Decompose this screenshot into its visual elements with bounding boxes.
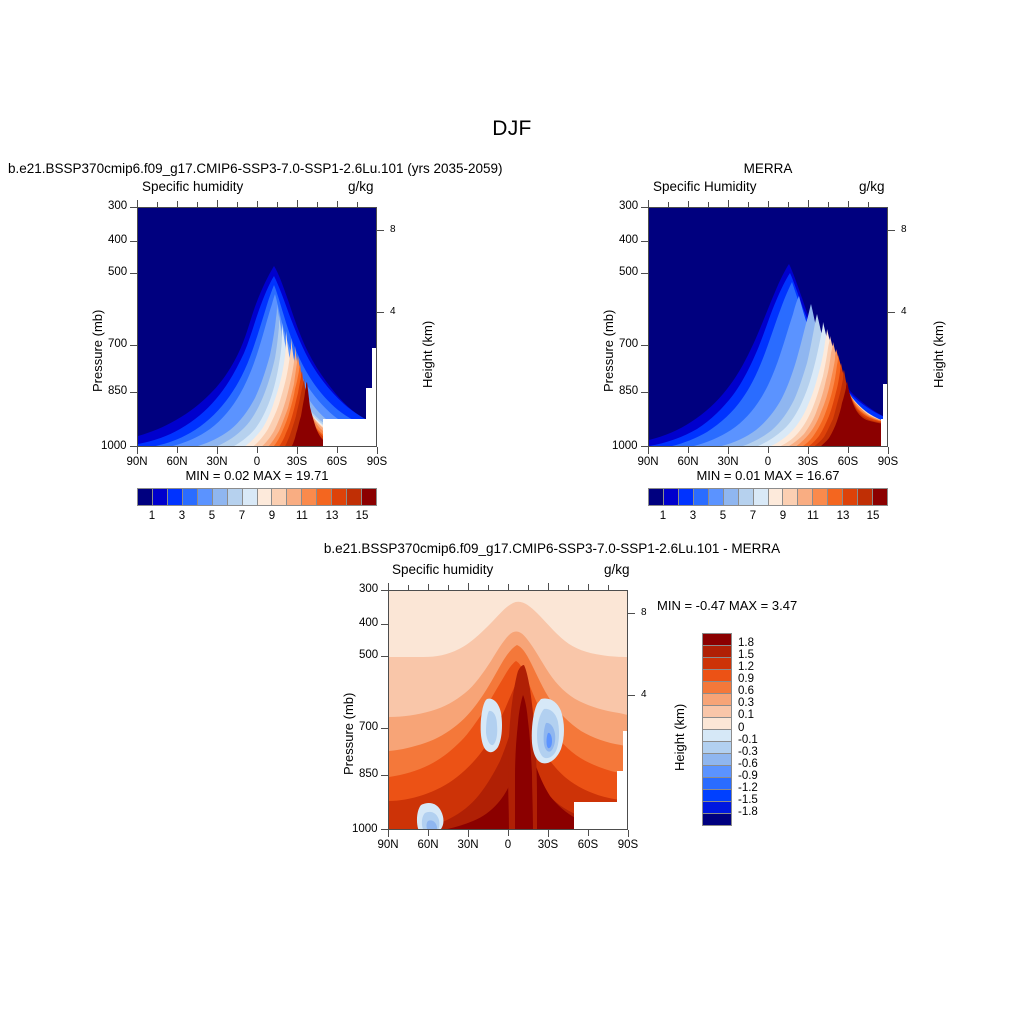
colorbar-cell-1 xyxy=(152,489,167,505)
colorbar-cell-10 xyxy=(703,753,731,765)
colorbar-cell-12 xyxy=(827,489,842,505)
diff-cbar-tick-8: -0.1 xyxy=(738,734,758,746)
obs-ytick-850: 850 xyxy=(619,385,638,397)
model-ytick-700: 700 xyxy=(108,338,127,350)
diff-variable-label: Specific humidity xyxy=(392,562,493,577)
model-panel-title: b.e21.BSSP370cmip6.f09_g17.CMIP6-SSP3-7.… xyxy=(8,161,503,176)
obs-colorbar xyxy=(648,488,888,506)
model-xtick-mark xyxy=(337,447,338,453)
colorbar-cell-1 xyxy=(663,489,678,505)
diff-xtick-mark xyxy=(428,584,429,590)
obs-cbar-tick-5: 5 xyxy=(708,510,738,522)
colorbar-cell-4 xyxy=(703,681,731,693)
model-xtick-minor xyxy=(317,202,318,207)
obs-xtick-minor xyxy=(868,202,869,207)
diff-colorbar xyxy=(702,633,732,826)
obs-xtick-mark xyxy=(808,447,809,454)
diff-xtick-mark xyxy=(548,583,549,590)
model-ytick-mark xyxy=(130,446,137,447)
colorbar-cell-7 xyxy=(753,489,768,505)
diff-plot-area xyxy=(388,590,628,830)
colorbar-cell-7 xyxy=(242,489,257,505)
diff-xtick-60N: 60N xyxy=(408,839,448,851)
model-ytick-500: 500 xyxy=(108,266,127,278)
model-xtick-minor xyxy=(237,202,238,207)
obs-height-tick-8: 8 xyxy=(901,224,907,235)
diff-ytick-mark xyxy=(381,624,388,625)
model-xtick-mark xyxy=(257,201,258,207)
obs-xtick-mark xyxy=(648,447,649,454)
diff-xtick-mark xyxy=(508,830,509,836)
colorbar-cell-9 xyxy=(271,489,286,505)
obs-xtick-30N: 30N xyxy=(708,456,748,468)
diff-cbar-tick-7: 0 xyxy=(738,722,744,734)
model-height-tick-mark xyxy=(377,230,384,231)
diff-cbar-tick-9: -0.3 xyxy=(738,746,758,758)
model-ytick-mark xyxy=(130,207,137,208)
colorbar-cell-13 xyxy=(331,489,346,505)
obs-cbar-tick-13: 13 xyxy=(828,510,858,522)
diff-xtick-mark xyxy=(428,830,429,836)
diff-cbar-tick-4: 0.6 xyxy=(738,685,754,697)
obs-height-tick-mark xyxy=(888,312,895,313)
obs-xtick-mark xyxy=(768,201,769,207)
diff-xtick-mark xyxy=(468,830,469,837)
obs-y-axis-title: Pressure (mb) xyxy=(601,310,616,392)
diff-units-label: g/kg xyxy=(604,562,630,577)
diff-xtick-0: 0 xyxy=(488,839,528,851)
diff-cbar-tick-13: -1.5 xyxy=(738,794,758,806)
obs-ytick-700: 700 xyxy=(619,338,638,350)
diff-panel-title: b.e21.BSSP370cmip6.f09_g17.CMIP6-SSP3-7.… xyxy=(272,541,832,556)
model-ytick-1000: 1000 xyxy=(101,440,127,452)
diff-xtick-minor xyxy=(528,585,529,590)
colorbar-cell-9 xyxy=(703,741,731,753)
obs-xtick-0: 0 xyxy=(748,456,788,468)
figure-title: DJF xyxy=(0,117,1024,141)
diff-ytick-700: 700 xyxy=(359,721,378,733)
diff-height-tick-mark xyxy=(628,695,635,696)
model-xtick-60S: 60S xyxy=(317,456,357,468)
model-xtick-90N: 90N xyxy=(117,456,157,468)
obs-ytick-mark xyxy=(641,392,648,393)
diff-cbar-tick-0: 1.8 xyxy=(738,637,754,649)
colorbar-cell-4 xyxy=(197,489,212,505)
diff-xtick-60S: 60S xyxy=(568,839,608,851)
model-xtick-minor xyxy=(277,202,278,207)
colorbar-cell-11 xyxy=(703,765,731,777)
obs-height-tick-mark xyxy=(888,230,895,231)
diff-cbar-tick-3: 0.9 xyxy=(738,673,754,685)
model-height-tick-4: 4 xyxy=(390,306,396,317)
obs-cbar-tick-3: 3 xyxy=(678,510,708,522)
diff-cbar-tick-2: 1.2 xyxy=(738,661,754,673)
obs-xtick-minor xyxy=(708,202,709,207)
obs-cbar-tick-9: 9 xyxy=(768,510,798,522)
obs-xtick-60S: 60S xyxy=(828,456,868,468)
colorbar-cell-13 xyxy=(703,789,731,801)
diff-contour-field xyxy=(389,591,628,830)
model-xtick-30N: 30N xyxy=(197,456,237,468)
diff-ytick-mark xyxy=(381,728,388,729)
diff-height-tick-8: 8 xyxy=(641,607,647,618)
model-minmax-stats: MIN = 0.02 MAX = 19.71 xyxy=(137,468,377,483)
colorbar-cell-10 xyxy=(797,489,812,505)
obs-height-axis-title: Height (km) xyxy=(931,321,946,388)
diff-cbar-tick-6: 0.1 xyxy=(738,709,754,721)
colorbar-cell-1 xyxy=(703,645,731,657)
diff-xtick-minor xyxy=(408,585,409,590)
colorbar-cell-13 xyxy=(842,489,857,505)
colorbar-cell-8 xyxy=(703,729,731,741)
diff-height-axis-title: Height (km) xyxy=(672,704,687,771)
obs-xtick-60N: 60N xyxy=(668,456,708,468)
diff-cbar-tick-1: 1.5 xyxy=(738,649,754,661)
obs-units-label: g/kg xyxy=(859,179,885,194)
model-cbar-tick-15: 15 xyxy=(347,510,377,522)
diff-xtick-minor xyxy=(448,585,449,590)
model-ytick-mark xyxy=(130,345,137,346)
model-xtick-mark xyxy=(137,200,138,207)
colorbar-cell-2 xyxy=(167,489,182,505)
obs-xtick-mark xyxy=(888,447,889,454)
obs-height-tick-4: 4 xyxy=(901,306,907,317)
diff-cbar-tick-11: -0.9 xyxy=(738,770,758,782)
obs-xtick-90S: 90S xyxy=(868,456,908,468)
model-xtick-mark xyxy=(297,200,298,207)
obs-xtick-30S: 30S xyxy=(788,456,828,468)
colorbar-cell-12 xyxy=(703,777,731,789)
diff-ytick-mark xyxy=(381,775,388,776)
diff-minmax-stats: MIN = -0.47 MAX = 3.47 xyxy=(657,598,797,613)
model-cbar-tick-3: 3 xyxy=(167,510,197,522)
colorbar-cell-0 xyxy=(649,489,663,505)
colorbar-cell-15 xyxy=(361,489,376,505)
obs-ytick-mark xyxy=(641,273,648,274)
diff-ytick-mark xyxy=(381,590,388,591)
colorbar-cell-2 xyxy=(703,657,731,669)
diff-xtick-90S: 90S xyxy=(608,839,648,851)
model-xtick-mark xyxy=(217,447,218,454)
obs-panel-title: MERRA xyxy=(648,161,888,176)
model-xtick-mark xyxy=(177,447,178,453)
colorbar-cell-3 xyxy=(703,669,731,681)
model-height-tick-8: 8 xyxy=(390,224,396,235)
colorbar-cell-3 xyxy=(693,489,708,505)
colorbar-cell-14 xyxy=(857,489,872,505)
model-contour-field xyxy=(138,208,377,447)
diff-xtick-mark xyxy=(548,830,549,837)
colorbar-cell-14 xyxy=(346,489,361,505)
model-xtick-mark xyxy=(137,447,138,454)
obs-variable-label: Specific Humidity xyxy=(653,179,757,194)
colorbar-cell-14 xyxy=(703,801,731,813)
diff-xtick-30S: 30S xyxy=(528,839,568,851)
diff-xtick-90N: 90N xyxy=(368,839,408,851)
diff-y-axis-title: Pressure (mb) xyxy=(341,693,356,775)
obs-ytick-500: 500 xyxy=(619,266,638,278)
diff-ytick-1000: 1000 xyxy=(352,823,378,835)
colorbar-cell-11 xyxy=(301,489,316,505)
model-xtick-90S: 90S xyxy=(357,456,397,468)
colorbar-cell-6 xyxy=(738,489,753,505)
model-ytick-400: 400 xyxy=(108,234,127,246)
obs-xtick-mark xyxy=(808,200,809,207)
obs-contour-field xyxy=(649,208,888,447)
model-height-tick-mark xyxy=(377,312,384,313)
diff-xtick-mark xyxy=(508,584,509,590)
diff-cbar-tick-12: -1.2 xyxy=(738,782,758,794)
colorbar-cell-7 xyxy=(703,717,731,729)
model-xtick-minor xyxy=(197,202,198,207)
obs-cbar-tick-11: 11 xyxy=(798,510,828,522)
diff-ytick-400: 400 xyxy=(359,617,378,629)
obs-xtick-minor xyxy=(828,202,829,207)
diff-xtick-mark xyxy=(628,830,629,837)
model-variable-label: Specific humidity xyxy=(142,179,243,194)
obs-ytick-mark xyxy=(641,241,648,242)
model-xtick-mark xyxy=(297,447,298,454)
colorbar-cell-6 xyxy=(703,705,731,717)
diff-xtick-minor xyxy=(608,585,609,590)
obs-ytick-mark xyxy=(641,207,648,208)
obs-xtick-mark xyxy=(648,200,649,207)
model-xtick-0: 0 xyxy=(237,456,277,468)
obs-ytick-1000: 1000 xyxy=(612,440,638,452)
model-plot-area xyxy=(137,207,377,447)
colorbar-cell-11 xyxy=(812,489,827,505)
obs-xtick-minor xyxy=(668,202,669,207)
obs-xtick-90N: 90N xyxy=(628,456,668,468)
obs-xtick-mark xyxy=(688,201,689,207)
model-colorbar xyxy=(137,488,377,506)
model-cbar-tick-1: 1 xyxy=(137,510,167,522)
obs-cbar-tick-1: 1 xyxy=(648,510,678,522)
colorbar-cell-2 xyxy=(678,489,693,505)
diff-xtick-mark xyxy=(588,584,589,590)
diff-xtick-minor xyxy=(568,585,569,590)
model-height-axis-title: Height (km) xyxy=(420,321,435,388)
obs-xtick-mark xyxy=(728,447,729,454)
obs-cbar-tick-15: 15 xyxy=(858,510,888,522)
diff-xtick-mark xyxy=(468,583,469,590)
colorbar-cell-3 xyxy=(182,489,197,505)
model-ytick-mark xyxy=(130,241,137,242)
obs-xtick-mark xyxy=(768,447,769,453)
model-xtick-mark xyxy=(377,447,378,454)
diff-height-tick-mark xyxy=(628,613,635,614)
obs-xtick-minor xyxy=(788,202,789,207)
colorbar-cell-15 xyxy=(872,489,887,505)
diff-ytick-850: 850 xyxy=(359,768,378,780)
obs-ytick-mark xyxy=(641,446,648,447)
model-ytick-mark xyxy=(130,273,137,274)
obs-xtick-mark xyxy=(848,201,849,207)
model-y-axis-title: Pressure (mb) xyxy=(90,310,105,392)
obs-xtick-minor xyxy=(748,202,749,207)
diff-cbar-tick-14: -1.8 xyxy=(738,806,758,818)
colorbar-cell-12 xyxy=(316,489,331,505)
diff-xtick-mark xyxy=(388,583,389,590)
colorbar-cell-15 xyxy=(703,813,731,825)
obs-plot-area xyxy=(648,207,888,447)
model-xtick-mark xyxy=(217,200,218,207)
obs-xtick-mark xyxy=(688,447,689,453)
model-cbar-tick-11: 11 xyxy=(287,510,317,522)
colorbar-cell-9 xyxy=(782,489,797,505)
model-cbar-tick-13: 13 xyxy=(317,510,347,522)
model-ytick-850: 850 xyxy=(108,385,127,397)
colorbar-cell-8 xyxy=(768,489,783,505)
model-ytick-300: 300 xyxy=(108,200,127,212)
model-xtick-minor xyxy=(157,202,158,207)
model-xtick-30S: 30S xyxy=(277,456,317,468)
model-xtick-mark xyxy=(177,201,178,207)
colorbar-cell-5 xyxy=(703,693,731,705)
diff-ytick-mark xyxy=(381,829,388,830)
obs-xtick-mark xyxy=(848,447,849,453)
obs-ytick-400: 400 xyxy=(619,234,638,246)
model-xtick-mark xyxy=(257,447,258,453)
model-cbar-tick-5: 5 xyxy=(197,510,227,522)
colorbar-cell-4 xyxy=(708,489,723,505)
obs-ytick-mark xyxy=(641,345,648,346)
model-xtick-60N: 60N xyxy=(157,456,197,468)
diff-xtick-30N: 30N xyxy=(448,839,488,851)
obs-cbar-tick-7: 7 xyxy=(738,510,768,522)
diff-ytick-mark xyxy=(381,656,388,657)
colorbar-cell-0 xyxy=(703,634,731,645)
colorbar-cell-8 xyxy=(257,489,272,505)
model-units-label: g/kg xyxy=(348,179,374,194)
obs-xtick-mark xyxy=(728,200,729,207)
colorbar-cell-0 xyxy=(138,489,152,505)
model-xtick-minor xyxy=(357,202,358,207)
diff-ytick-300: 300 xyxy=(359,583,378,595)
colorbar-cell-10 xyxy=(286,489,301,505)
model-cbar-tick-7: 7 xyxy=(227,510,257,522)
diff-xtick-mark xyxy=(588,830,589,836)
colorbar-cell-5 xyxy=(723,489,738,505)
colorbar-cell-6 xyxy=(227,489,242,505)
obs-minmax-stats: MIN = 0.01 MAX = 16.67 xyxy=(648,468,888,483)
model-xtick-mark xyxy=(337,201,338,207)
obs-ytick-300: 300 xyxy=(619,200,638,212)
model-ytick-mark xyxy=(130,392,137,393)
diff-xtick-mark xyxy=(388,830,389,837)
diff-ytick-500: 500 xyxy=(359,649,378,661)
diff-height-tick-4: 4 xyxy=(641,689,647,700)
diff-cbar-tick-5: 0.3 xyxy=(738,697,754,709)
diff-cbar-tick-10: -0.6 xyxy=(738,758,758,770)
diff-xtick-minor xyxy=(488,585,489,590)
colorbar-cell-5 xyxy=(212,489,227,505)
model-cbar-tick-9: 9 xyxy=(257,510,287,522)
